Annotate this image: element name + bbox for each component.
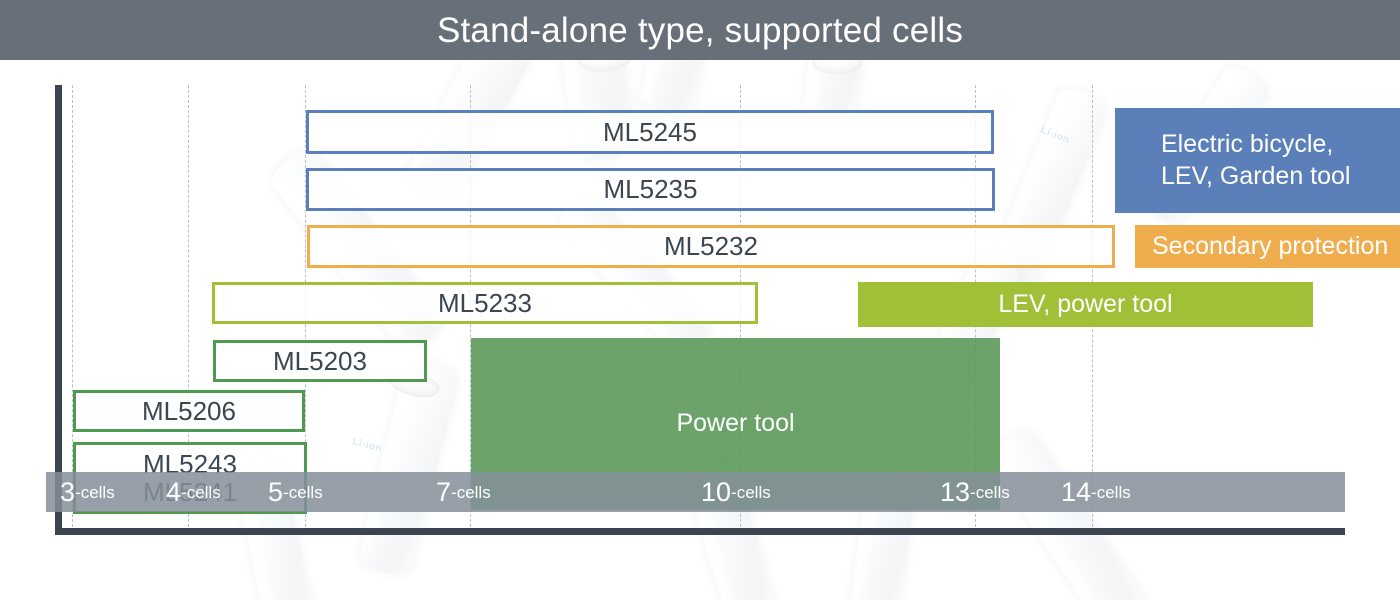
block-secondary-protection[interactable]: Secondary protection	[1135, 225, 1400, 268]
bar-ml5232[interactable]: ML5232	[307, 225, 1115, 268]
page-title: Stand-alone type, supported cells	[437, 13, 963, 48]
x-tick-7-cells: 7 -cells	[436, 472, 491, 512]
bar-ml5245[interactable]: ML5245	[306, 110, 994, 154]
block-electric-bicycle[interactable]: Electric bicycle, LEV, Garden tool	[1115, 108, 1400, 213]
bar-label-ml5235: ML5235	[604, 175, 698, 203]
bar-label-ml5206: ML5206	[142, 397, 236, 425]
x-axis-label-band: 3 -cells 4 -cells 5 -cells 7 -cells 10 -…	[46, 472, 1345, 512]
bar-label-ml5232: ML5232	[664, 232, 758, 260]
bar-label-ml5233: ML5233	[438, 289, 532, 317]
y-axis-line	[55, 85, 62, 535]
x-tick-10-cells: 10 -cells	[701, 472, 771, 512]
x-tick-14-cells: 14 -cells	[1061, 472, 1131, 512]
block-label-power-tool: Power tool	[676, 408, 794, 439]
block-label-electric-bicycle: Electric bicycle, LEV, Garden tool	[1161, 129, 1351, 192]
x-tick-3-cells: 3 -cells	[60, 472, 115, 512]
chart-plot-area: ML5245 ML5235 ML5232 ML5233 ML5203 ML520…	[0, 60, 1400, 600]
bar-label-ml5203: ML5203	[273, 347, 367, 375]
bar-label-ml5245: ML5245	[603, 118, 697, 146]
bar-ml5206[interactable]: ML5206	[73, 390, 305, 432]
x-tick-5-cells: 5 -cells	[268, 472, 323, 512]
x-tick-4-cells: 4 -cells	[166, 472, 221, 512]
x-axis-line	[55, 528, 1345, 535]
block-label-secondary-protection: Secondary protection	[1152, 231, 1388, 262]
block-label-lev-power-tool: LEV, power tool	[998, 289, 1172, 320]
bar-ml5233[interactable]: ML5233	[212, 282, 758, 324]
slide-root: Li-ion Li-ion Li-ion Li-ion Stand-alone …	[0, 0, 1400, 600]
block-lev-power-tool[interactable]: LEV, power tool	[858, 282, 1313, 327]
bar-ml5203[interactable]: ML5203	[213, 340, 427, 382]
slide-header: Stand-alone type, supported cells	[0, 0, 1400, 60]
x-tick-13-cells: 13 -cells	[940, 472, 1010, 512]
bar-ml5235[interactable]: ML5235	[306, 168, 995, 211]
